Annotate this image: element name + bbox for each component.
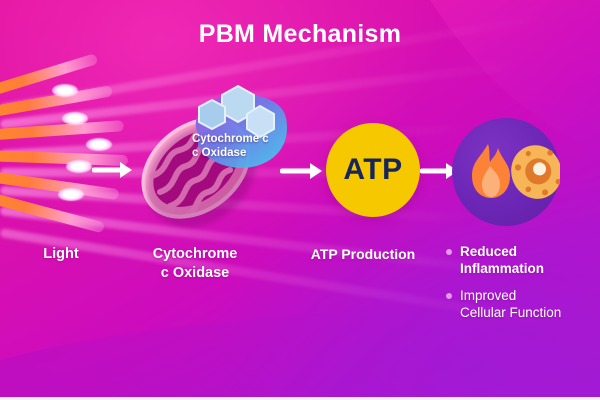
atp-circle: ATP (326, 123, 420, 217)
badge-label: Cytochrome c c Oxidase (192, 132, 296, 160)
cell-icon (504, 139, 560, 206)
arrow-mitochondrion-to-atp (280, 159, 326, 183)
caption-light: Light (6, 245, 116, 264)
badge-label-line2: c Oxidase (192, 146, 296, 160)
caption-atp-production: ATP Production (288, 245, 438, 264)
bullet-dot-icon (446, 293, 452, 299)
atp-label: ATP (343, 153, 402, 187)
bullet-2-line1: Improved (460, 287, 598, 304)
badge-label-line1: Cytochrome c (192, 132, 296, 146)
bullet-2-line2: Cellular Function (460, 304, 598, 321)
bullet-1-line1: Reduced (460, 243, 598, 260)
bullet-dot-icon (446, 249, 452, 255)
caption-cytochrome: Cytochrome c Oxidase (110, 245, 280, 283)
bullet-1-line2: Inflammation (460, 260, 598, 277)
page-title: PBM Mechanism (0, 20, 600, 49)
caption-cytochrome-line2: c Oxidase (110, 264, 280, 283)
list-item: Reduced Inflammation (446, 243, 598, 277)
outcome-bullet-list: Reduced Inflammation Improved Cellular F… (446, 243, 598, 331)
outcomes-circle (452, 118, 560, 226)
cytochrome-c-oxidase-badge: Cytochrome c c Oxidase (182, 88, 292, 178)
caption-cytochrome-line1: Cytochrome (110, 245, 280, 264)
infographic-canvas: PBM Mechanism (0, 0, 600, 400)
list-item: Improved Cellular Function (446, 287, 598, 321)
flame-icon (472, 144, 510, 198)
